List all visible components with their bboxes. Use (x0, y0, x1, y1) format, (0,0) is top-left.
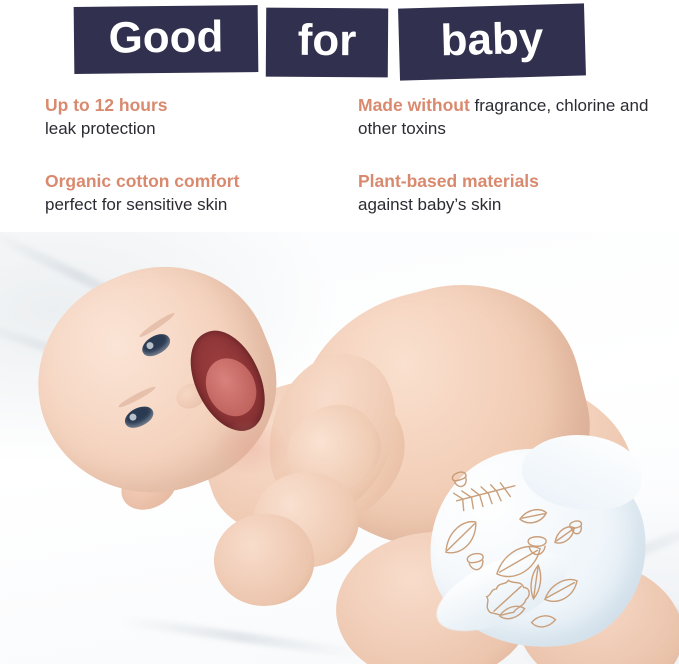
headline-word-good: Good (74, 5, 259, 74)
headline-banner: Good for baby (0, 0, 679, 88)
baby-diaper (417, 434, 659, 662)
baby-product-photo: up to 12 hours protection (0, 232, 679, 664)
feature-subtitle: perfect for sensitive skin (45, 193, 345, 216)
diaper-leaf-pattern-icon (417, 434, 659, 662)
feature-subtitle: leak protection (45, 117, 345, 140)
feature-item-organic-cotton: Organic cotton comfort perfect for sensi… (45, 170, 345, 216)
feature-item-leak-protection: Up to 12 hours leak protection (45, 94, 345, 140)
feature-list: Up to 12 hours leak protection Made with… (0, 92, 679, 232)
headline-word-for: for (266, 8, 388, 78)
feature-item-made-without: Made without fragrance, chlorine and oth… (358, 94, 658, 140)
feature-title: Organic cotton comfort (45, 170, 345, 193)
product-feature-panel: Good for baby Up to 12 hours leak protec… (0, 0, 679, 664)
feature-item-plant-based: Plant-based materials against baby’s ski… (358, 170, 658, 216)
feature-title: Up to 12 hours (45, 94, 345, 117)
headline-word-baby: baby (398, 3, 586, 80)
feature-body: Made without fragrance, chlorine and oth… (358, 94, 658, 140)
feature-subtitle: against baby’s skin (358, 193, 658, 216)
feature-title: Plant-based materials (358, 170, 658, 193)
feature-title: Made without (358, 95, 470, 115)
baby-cheek (214, 420, 288, 476)
